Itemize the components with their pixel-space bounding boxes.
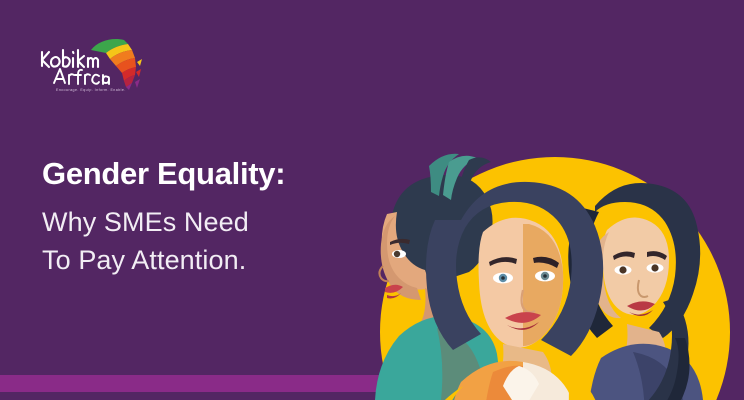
logo-wordmark-kobikam (42, 50, 98, 67)
kobikam-africa-logo[interactable]: Encourage. Equip. Inform. Enable. (36, 32, 156, 94)
subtitle-block: Why SMEs Need To Pay Attention. (42, 203, 372, 280)
subtitle-line-1: Why SMEs Need (42, 203, 372, 241)
logo-tagline: Encourage. Equip. Inform. Enable. (56, 88, 126, 92)
headline-block: Gender Equality: Why SMEs Need To Pay At… (42, 156, 372, 279)
gender-equality-banner: Encourage. Equip. Inform. Enable. Gender… (0, 0, 744, 400)
subtitle-line-2: To Pay Attention. (42, 241, 372, 279)
three-women-illustration (333, 100, 744, 400)
page-title: Gender Equality: (42, 156, 372, 193)
